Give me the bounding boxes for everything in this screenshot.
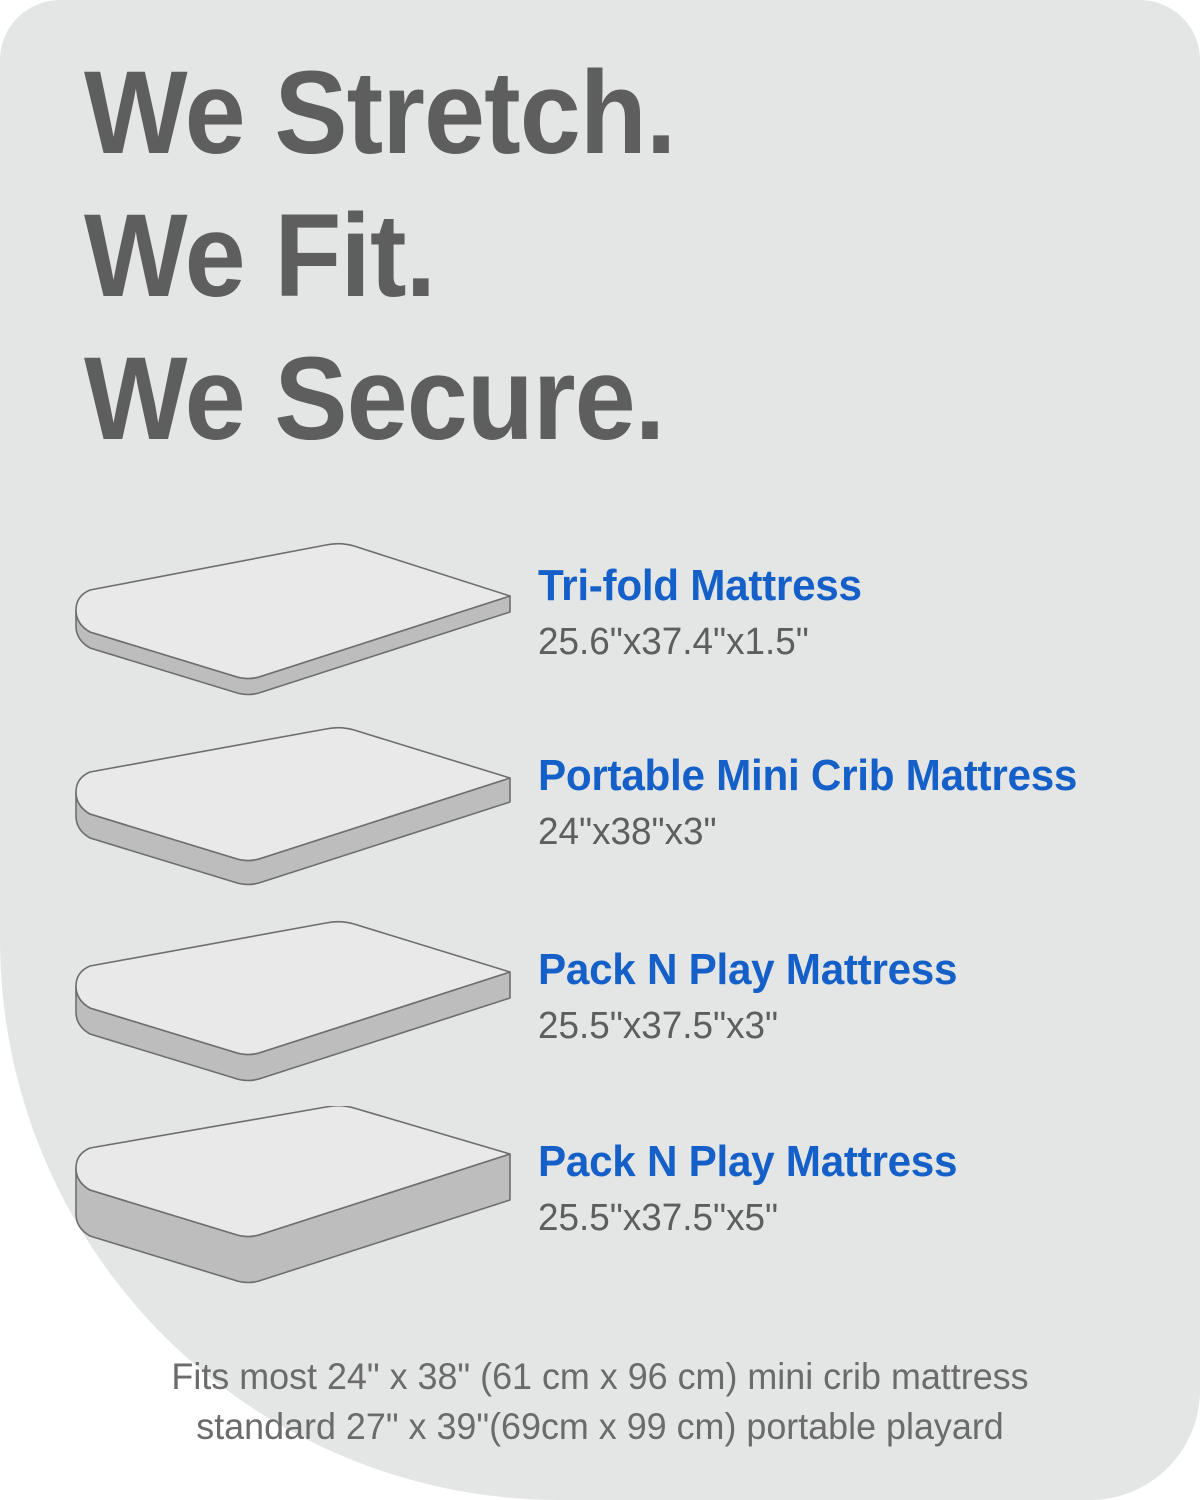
product-text: Pack N Play Mattress 25.5"x37.5"x5" (538, 1136, 1178, 1242)
product-dimensions: 25.6"x37.4"x1.5" (538, 618, 1159, 666)
footer-note: Fits most 24" x 38" (61 cm x 96 cm) mini… (0, 1352, 1200, 1452)
product-text: Tri-fold Mattress 25.6"x37.4"x1.5" (538, 560, 1178, 666)
mattress-isometric-icon (58, 1106, 528, 1298)
list-item: Portable Mini Crib Mattress 24"x38"x3" (0, 708, 1200, 900)
mattress-isometric-icon (58, 920, 528, 1112)
headline-block: We Stretch. We Fit. We Secure. (84, 42, 1124, 471)
list-item: Pack N Play Mattress 25.5"x37.5"x3" (0, 900, 1200, 1092)
list-item: Tri-fold Mattress 25.6"x37.4"x1.5" (0, 516, 1200, 708)
footer-line-2: standard 27" x 39"(69cm x 99 cm) portabl… (18, 1402, 1182, 1452)
product-name: Tri-fold Mattress (538, 560, 1152, 612)
product-dimensions: 24"x38"x3" (538, 808, 1159, 856)
mattress-isometric-icon (58, 542, 528, 734)
product-dimensions: 25.5"x37.5"x3" (538, 1002, 1159, 1050)
headline-line-3: We Secure. (84, 328, 1051, 471)
product-text: Portable Mini Crib Mattress 24"x38"x3" (538, 750, 1178, 856)
headline-line-2: We Fit. (84, 185, 1051, 328)
mattress-isometric-icon (58, 726, 528, 918)
product-name: Pack N Play Mattress (538, 944, 1152, 996)
list-item: Pack N Play Mattress 25.5"x37.5"x5" (0, 1092, 1200, 1284)
product-list: Tri-fold Mattress 25.6"x37.4"x1.5" Porta… (0, 516, 1200, 1284)
product-infographic: We Stretch. We Fit. We Secure. Tri-fold … (0, 0, 1200, 1500)
footer-line-1: Fits most 24" x 38" (61 cm x 96 cm) mini… (18, 1352, 1182, 1402)
product-name: Pack N Play Mattress (538, 1136, 1152, 1188)
product-name: Portable Mini Crib Mattress (538, 750, 1152, 802)
product-text: Pack N Play Mattress 25.5"x37.5"x3" (538, 944, 1178, 1050)
headline-line-1: We Stretch. (84, 42, 1051, 185)
product-dimensions: 25.5"x37.5"x5" (538, 1194, 1159, 1242)
